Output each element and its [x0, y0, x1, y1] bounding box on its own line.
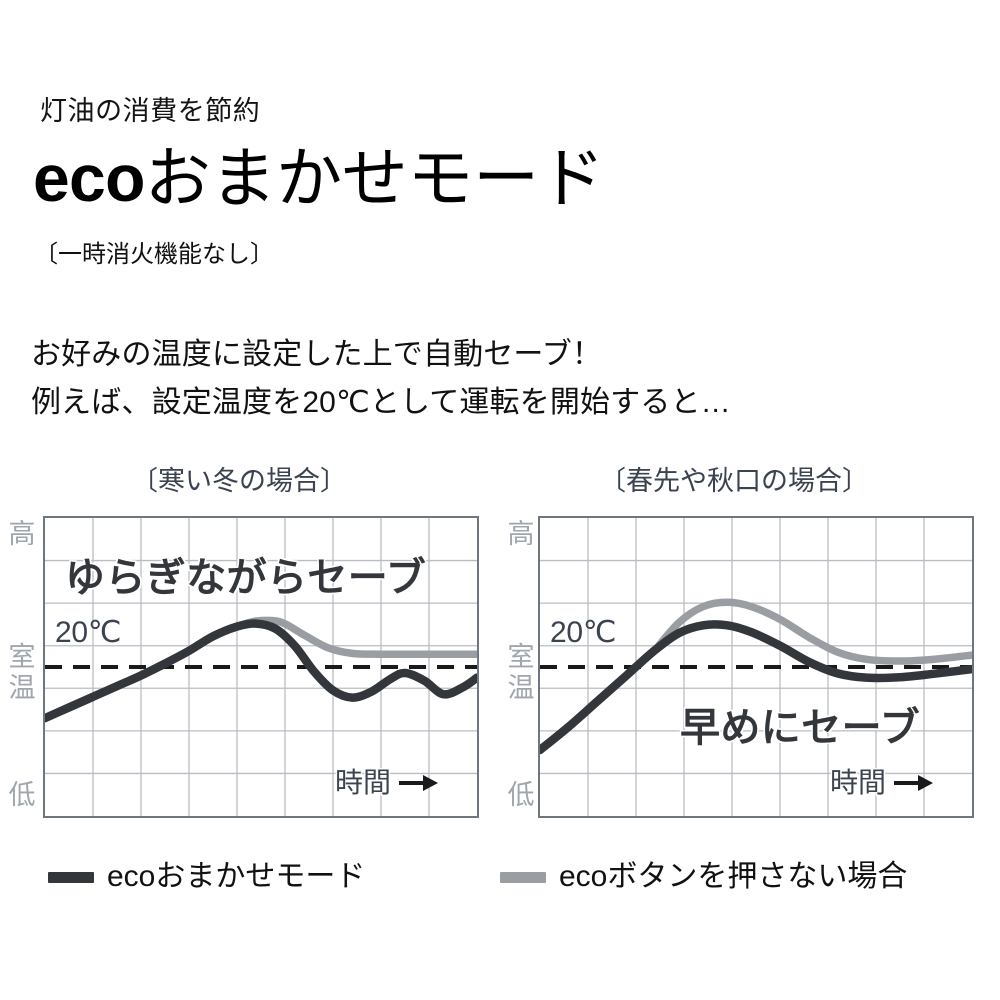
y-axis-label-low: 低	[503, 782, 539, 809]
chart-legend: ecoおまかせモード ecoボタンを押さない場合	[0, 862, 1000, 912]
y-axis-label-room-char2: 温	[503, 673, 539, 704]
lead-line-2: 例えば、設定温度を20℃として運転を開始すると…	[31, 379, 951, 427]
callout-spring-autumn: 早めにセーブ	[680, 708, 920, 748]
y-axis-label-room-char2: 温	[4, 673, 40, 704]
legend-item-no-eco: ecoボタンを押さない場合	[500, 862, 907, 892]
charts-region: 〔寒い冬の場合〕 高 室 温 低 20℃ ゆらぎながらセーブ 時間 〔春先や秋口…	[0, 460, 1000, 840]
legend-label-no-eco: ecoボタンを押さない場合	[559, 862, 907, 892]
time-label-text: 時間	[335, 769, 391, 797]
arrow-right-icon	[894, 773, 934, 793]
setpoint-label-spring-autumn: 20℃	[550, 618, 616, 648]
time-label-text: 時間	[830, 769, 886, 797]
y-axis-label-room-char1: 室	[4, 642, 40, 673]
y-axis-label-room-temp: 室 温	[4, 642, 40, 704]
legend-label-eco-mode: ecoおまかせモード	[107, 862, 365, 892]
page-title: ecoおまかせモード	[33, 145, 604, 211]
arrow-right-icon	[399, 773, 439, 793]
lead-paragraph: お好みの温度に設定した上で自動セーブ！ 例えば、設定温度を20℃として運転を開始…	[31, 331, 951, 427]
y-axis-labels-cold-winter: 高 室 温 低	[4, 516, 40, 818]
plot-area-cold-winter: 20℃ ゆらぎながらセーブ 時間	[43, 516, 479, 818]
y-axis-label-low: 低	[4, 782, 40, 809]
callout-cold-winter: ゆらぎながらセーブ	[65, 558, 426, 598]
legend-item-eco-mode: ecoおまかせモード	[48, 862, 365, 892]
plot-area-spring-autumn: 20℃ 早めにセーブ 時間	[538, 516, 974, 818]
x-axis-time-label-cold-winter: 時間	[335, 769, 439, 797]
y-axis-label-room-char1: 室	[503, 642, 539, 673]
chart-title-cold-winter: 〔寒い冬の場合〕	[131, 468, 347, 495]
legend-swatch-eco-mode	[48, 872, 94, 883]
eyebrow-text: 灯油の消費を節約	[40, 98, 260, 125]
headline-jp-word: おまかせモード	[145, 141, 605, 215]
y-axis-label-high: 高	[503, 521, 539, 548]
y-axis-label-high: 高	[4, 521, 40, 548]
y-axis-label-room-temp: 室 温	[503, 642, 539, 704]
legend-swatch-no-eco	[500, 872, 546, 883]
chart-title-spring-autumn: 〔春先や秋口の場合〕	[599, 468, 869, 495]
headline-eco-word: eco	[33, 141, 145, 215]
chart-panel-spring-autumn: 〔春先や秋口の場合〕 高 室 温 低 20℃ 早めにセーブ 時間	[495, 460, 1000, 840]
x-axis-time-label-spring-autumn: 時間	[830, 769, 934, 797]
headline-subnote: 〔一時消火機能なし〕	[34, 243, 274, 267]
y-axis-labels-spring-autumn: 高 室 温 低	[503, 516, 539, 818]
chart-panel-cold-winter: 〔寒い冬の場合〕 高 室 温 低 20℃ ゆらぎながらセーブ 時間	[0, 460, 490, 840]
lead-line-1: お好みの温度に設定した上で自動セーブ！	[31, 331, 951, 379]
setpoint-label-cold-winter: 20℃	[55, 618, 121, 648]
